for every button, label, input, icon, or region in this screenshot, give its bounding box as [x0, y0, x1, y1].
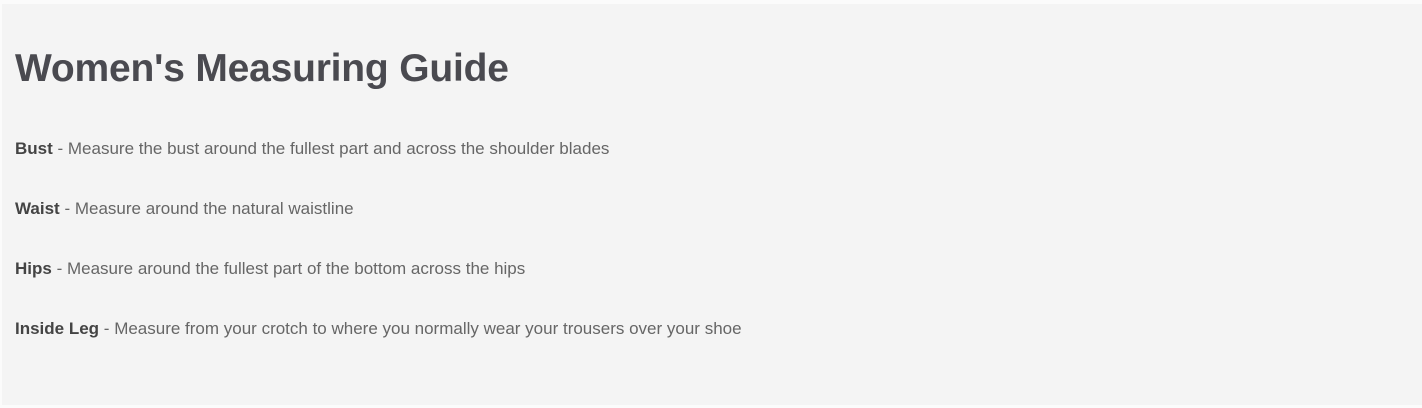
measurement-description: Measure from your crotch to where you no… [114, 319, 741, 338]
measurement-label: Inside Leg [15, 319, 99, 338]
list-item: Hips - Measure around the fullest part o… [15, 252, 742, 312]
measurement-separator: - [60, 199, 75, 218]
measurement-list: Bust - Measure the bust around the fulle… [15, 132, 742, 372]
measurement-separator: - [99, 319, 114, 338]
measurement-description: Measure around the fullest part of the b… [67, 259, 525, 278]
measurement-label: Hips [15, 259, 52, 278]
measurement-separator: - [53, 139, 68, 158]
list-item: Waist - Measure around the natural waist… [15, 192, 742, 252]
list-item: Inside Leg - Measure from your crotch to… [15, 312, 742, 372]
measurement-label: Bust [15, 139, 53, 158]
page-title: Women's Measuring Guide [15, 46, 509, 92]
list-item: Bust - Measure the bust around the fulle… [15, 132, 742, 192]
measurement-description: Measure around the natural waistline [75, 199, 354, 218]
measurement-label: Waist [15, 199, 60, 218]
measurement-separator: - [52, 259, 67, 278]
measurement-description: Measure the bust around the fullest part… [68, 139, 610, 158]
page-surface: Women's Measuring Guide Bust - Measure t… [2, 4, 1422, 405]
